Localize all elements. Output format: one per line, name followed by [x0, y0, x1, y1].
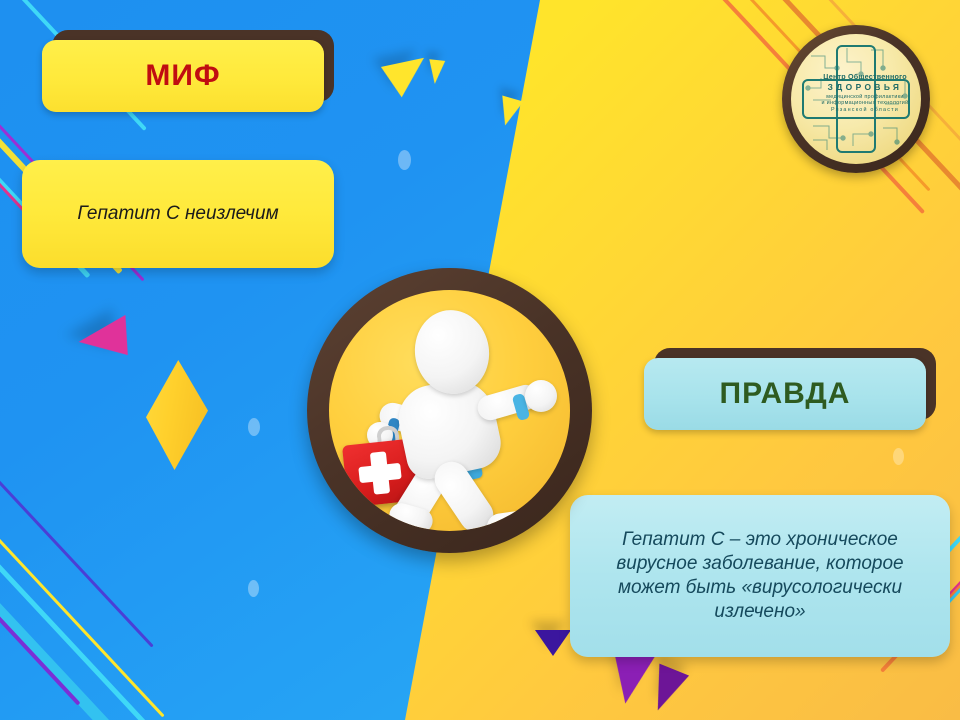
decor-oval-light — [248, 580, 259, 597]
decor-oval-light — [248, 418, 260, 436]
logo-line-4: и информационных технологий — [795, 100, 921, 106]
doctor-figure-hand-front — [525, 380, 557, 412]
doctor-medallion — [307, 268, 592, 553]
truth-banner: ПРАВДА — [654, 348, 936, 420]
logo-line-5: Рязанской области — [795, 107, 921, 113]
myth-statement-text: Гепатит С неизлечим — [77, 203, 278, 225]
myth-banner-label: МИФ — [145, 59, 220, 93]
myth-banner-face: МИФ — [42, 40, 324, 112]
myth-banner: МИФ — [52, 30, 334, 102]
truth-statement-text: Гепатит С – это хроническое вирусное заб… — [584, 528, 936, 624]
decor-triangle-yellow — [427, 59, 445, 85]
slide-canvas: МИФ Гепатит С неизлечим ПРАВДА Гепатит С… — [0, 0, 960, 720]
logo-line-1: Центр Общественного — [795, 72, 921, 81]
medical-cross-icon — [358, 463, 401, 483]
logo-line-2: ЗДОРОВЬЯ — [795, 82, 921, 92]
truth-statement-card: Гепатит С – это хроническое вирусное заб… — [570, 495, 950, 657]
logo-text-block: Центр Общественного ЗДОРОВЬЯ медицинской… — [795, 72, 921, 113]
truth-banner-label: ПРАВДА — [720, 377, 851, 411]
decor-triangle-indigo — [535, 630, 571, 656]
logo-inner-disc: Центр Общественного ЗДОРОВЬЯ медицинской… — [791, 34, 921, 164]
decor-oval-light — [893, 448, 904, 465]
decor-oval-light — [398, 150, 411, 170]
myth-statement-card: Гепатит С неизлечим — [22, 160, 334, 268]
truth-banner-face: ПРАВДА — [644, 358, 926, 430]
medallion-inner-disc — [329, 290, 570, 531]
doctor-figure-head — [410, 305, 495, 398]
organization-logo: Центр Общественного ЗДОРОВЬЯ медицинской… — [782, 25, 930, 173]
